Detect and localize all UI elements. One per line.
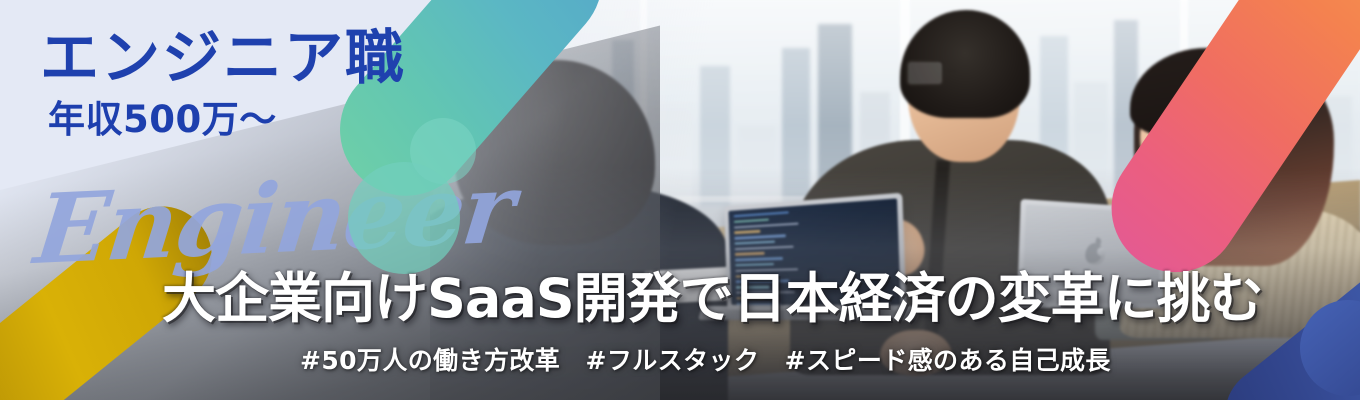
headline: 大企業向けSaaS開発で日本経済の変革に挑む	[162, 272, 1263, 326]
salary-text: 年収500万〜	[48, 101, 277, 138]
job-title: エンジニア職	[40, 28, 406, 87]
hashtag-list: #50万人の働き方改革 #フルスタック #スピード感のある自己成長	[300, 348, 1111, 373]
teal-circle-shape	[348, 162, 460, 274]
recruitment-banner: エンジニア職 年収500万〜 Engineer 大企業向けSaaS開発で日本経済…	[0, 0, 1360, 400]
